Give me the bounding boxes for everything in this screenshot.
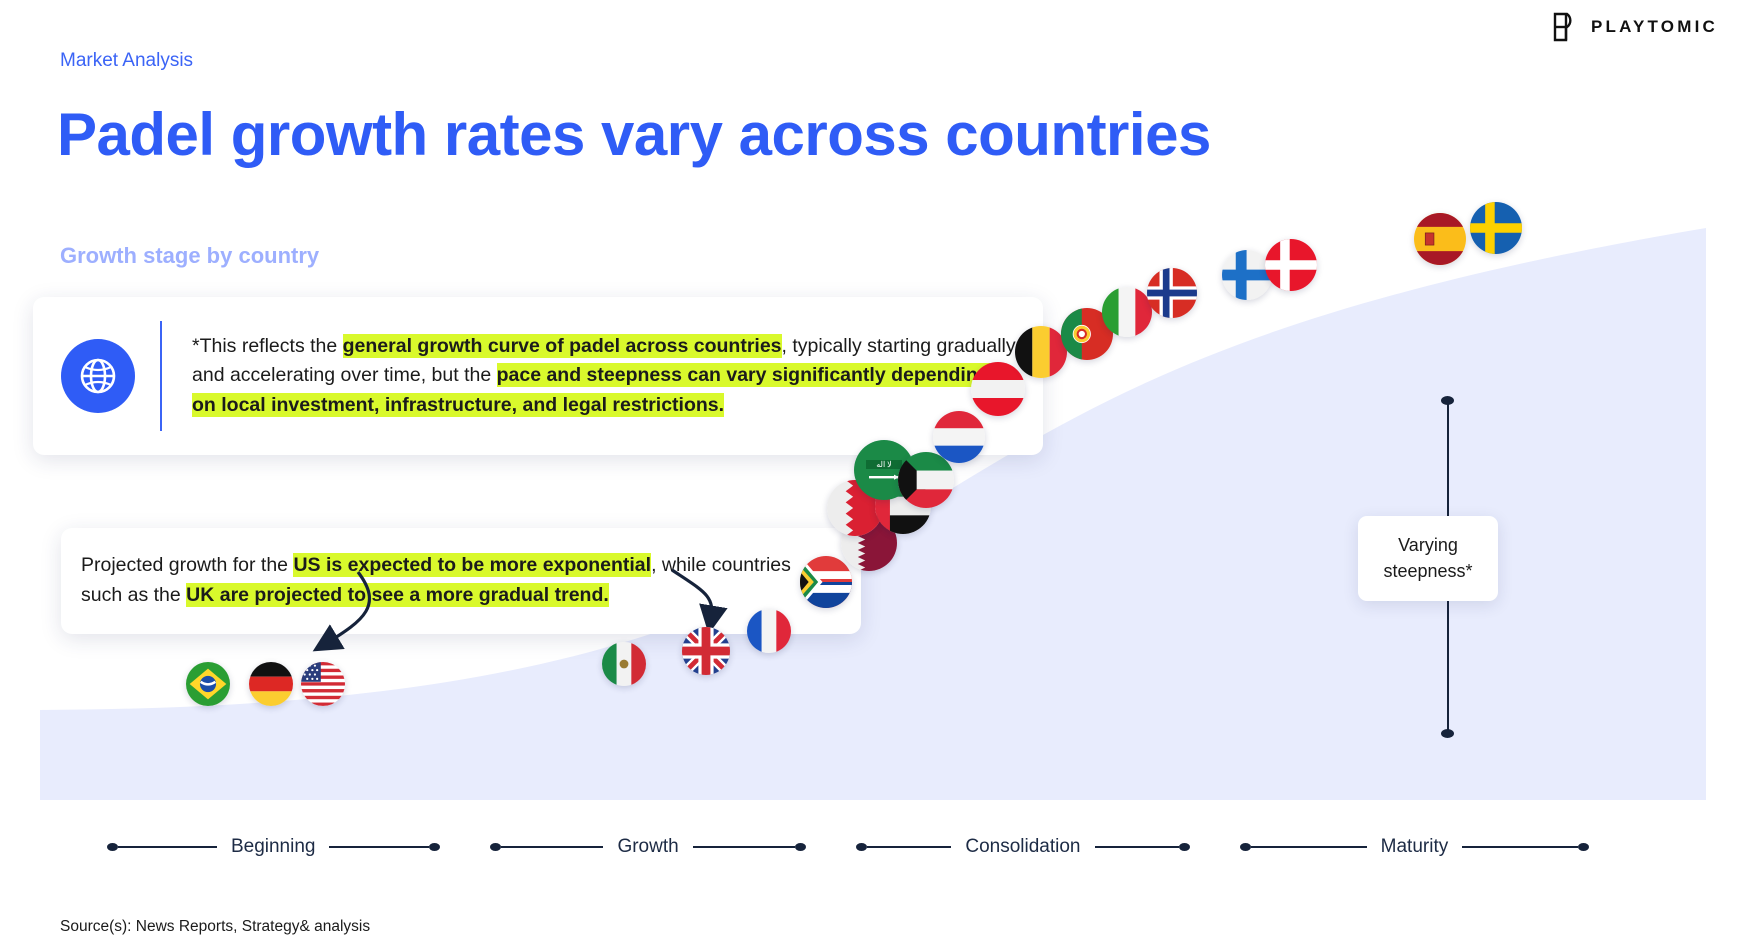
stage-cap-right [429, 843, 440, 851]
info-callout-text: *This reflects the general growth curve … [192, 332, 1017, 421]
country-flag-it[interactable] [1102, 287, 1152, 337]
stage-bar-right [329, 846, 428, 848]
stage-cap-left [107, 843, 118, 851]
highlighted-phrase: UK are projected to see a more gradual t… [186, 583, 609, 607]
eyebrow-label: Market Analysis [60, 50, 193, 72]
stage-marker-consolidation: Consolidation [856, 836, 1189, 858]
stage-cap-right [1179, 843, 1190, 851]
country-flag-br[interactable] [186, 662, 230, 706]
plain-phrase: Projected growth for the [81, 554, 293, 576]
stage-cap-left [1240, 843, 1251, 851]
stage-marker-growth: Growth [490, 836, 807, 858]
stage-label: Maturity [1367, 836, 1463, 858]
country-flag-nl[interactable] [933, 411, 985, 463]
stage-bar-left [867, 846, 951, 848]
country-flag-us[interactable] [301, 662, 345, 706]
stage-cap-left [490, 843, 501, 851]
plain-phrase: *This reflects the [192, 335, 343, 357]
source-note: Source(s): News Reports, Strategy& analy… [60, 918, 370, 936]
stage-bar-left [1251, 846, 1367, 848]
stage-bar-right [693, 846, 796, 848]
country-flag-mx[interactable] [602, 642, 646, 686]
stage-label: Consolidation [951, 836, 1094, 858]
country-flag-at[interactable] [971, 362, 1025, 416]
info-callout-card: *This reflects the general growth curve … [33, 297, 1043, 455]
steepness-bottom-cap [1441, 729, 1454, 738]
projection-callout-text: Projected growth for the US is expected … [81, 550, 837, 610]
stage-bar-left [118, 846, 217, 848]
country-flag-fr[interactable] [747, 609, 791, 653]
country-flag-be[interactable] [1015, 326, 1067, 378]
globe-badge [61, 339, 135, 413]
globe-icon [76, 354, 120, 398]
stage-marker-beginning: Beginning [107, 836, 440, 858]
stage-bar-left [501, 846, 604, 848]
country-flag-se[interactable] [1470, 202, 1522, 254]
projection-callout-card: Projected growth for the US is expected … [61, 528, 861, 634]
stage-cap-left [856, 843, 867, 851]
steepness-line-2: steepness* [1368, 559, 1488, 585]
stage-label: Beginning [217, 836, 330, 858]
country-flag-za[interactable] [800, 556, 852, 608]
stage-cap-right [1578, 843, 1589, 851]
steepness-annotation-card: Varying steepness* [1358, 516, 1498, 601]
highlighted-phrase: US is expected to be more exponential [293, 553, 651, 577]
stage-label: Growth [603, 836, 692, 858]
country-flag-de[interactable] [249, 662, 293, 706]
stage-cap-right [795, 843, 806, 851]
country-flag-fi[interactable] [1222, 250, 1272, 300]
country-flag-es[interactable] [1414, 213, 1466, 265]
brand-logo-text: PLAYTOMIC [1591, 17, 1718, 37]
slide-canvas: PLAYTOMIC Market Analysis Padel growth r… [0, 0, 1746, 948]
country-flag-kw[interactable] [898, 452, 954, 508]
country-flag-gb[interactable] [682, 627, 730, 675]
stage-bar-right [1462, 846, 1578, 848]
page-title: Padel growth rates vary across countries [57, 103, 1211, 166]
steepness-line-1: Varying [1368, 533, 1488, 559]
stage-marker-maturity: Maturity [1240, 836, 1590, 858]
playtomic-logo-mark-icon [1553, 12, 1580, 42]
info-callout-divider [160, 321, 162, 431]
svg-text:لا اله: لا اله [876, 460, 892, 469]
brand-logo: PLAYTOMIC [1553, 12, 1718, 42]
country-flag-no[interactable] [1147, 268, 1197, 318]
stage-bar-right [1095, 846, 1179, 848]
country-flag-dk[interactable] [1265, 239, 1317, 291]
highlighted-phrase: general growth curve of padel across cou… [343, 334, 782, 358]
